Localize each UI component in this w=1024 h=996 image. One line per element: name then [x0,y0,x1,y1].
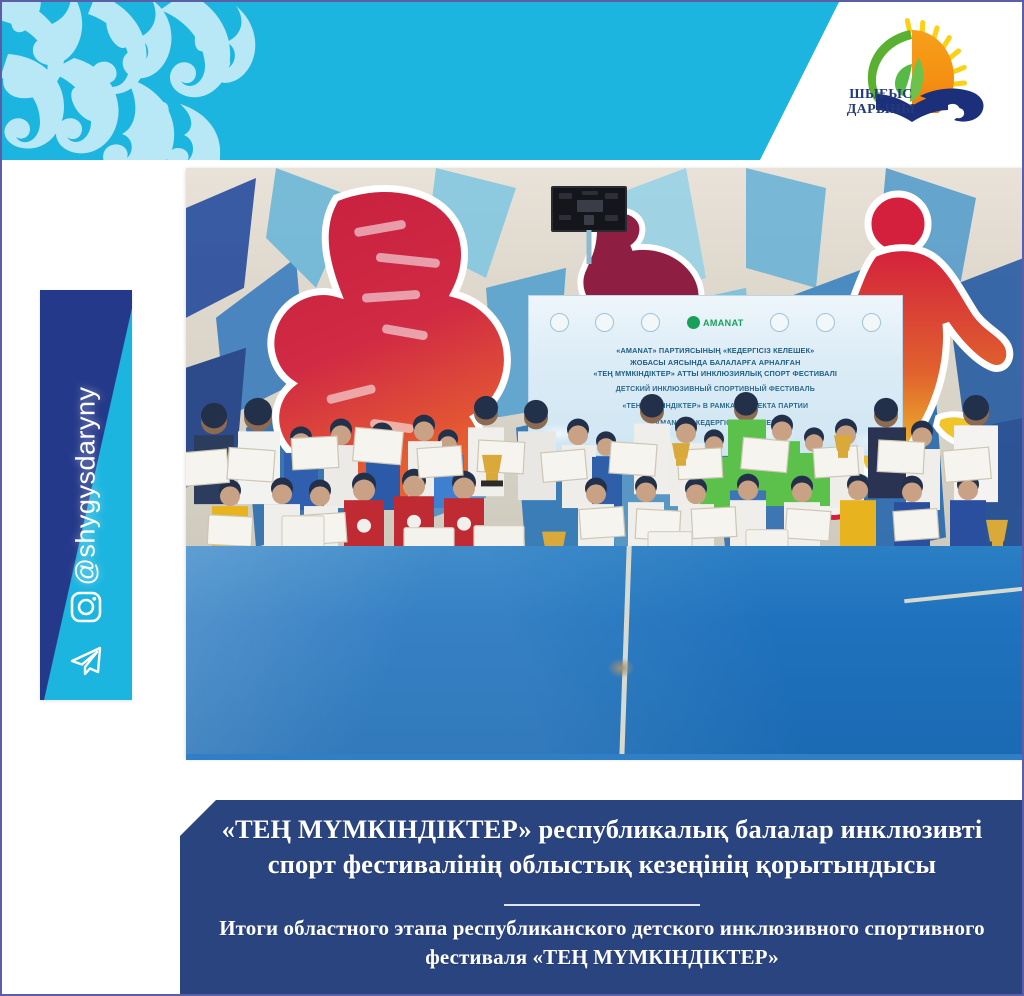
sponsor-logo-6 [862,313,881,332]
banner-kk-line-3: «ТЕҢ МҮМКІНДІКТЕР» АТТЫ ИНКЛЮЗИЯЛЫҚ СПОР… [540,368,891,379]
event-photo: AMANAT «AMANAT» ПАРТИЯСЫНЫҢ «КЕДЕРГІСІЗ … [186,168,1024,758]
photo-bottom-strip [186,754,1024,760]
sponsor-logo-3 [641,313,660,332]
sponsor-logo-4 [770,313,789,332]
kazakh-ornament-pattern [0,0,260,160]
floor-scuff-mark [608,658,634,678]
logo-line-2: ДАРЫНЫ [838,103,924,118]
title-divider [504,904,700,906]
sponsor-logo-5 [816,313,835,332]
event-banner-sponsor-logos: AMANAT [536,305,894,340]
banner-kk-line-1: «AMANAT» ПАРТИЯСЫНЫҢ «КЕДЕРГІСІЗ КЕЛЕШЕК… [540,345,891,356]
poster-canvas: ШЫҒЫС ДАРЫНЫ @shygysdaryny [0,0,1024,996]
sponsor-logo-2 [595,313,614,332]
organization-logo: ШЫҒЫС ДАРЫНЫ [832,14,1000,160]
instagram-icon[interactable] [69,590,103,624]
scoreboard-icon [551,186,627,232]
title-russian: Итоги областного этапа республиканского … [206,914,998,972]
banner-kk-line-2: ЖОБАСЫ АЯСЫНДА БАЛАЛАРҒА АРНАЛҒАН [540,357,891,368]
social-handle-bar[interactable]: @shygysdaryny [40,290,132,700]
amanat-label: AMANAT [703,318,744,328]
floor-reflection [186,546,1024,758]
telegram-paper-plane-icon[interactable] [67,642,105,680]
logo-wordmark: ШЫҒЫС ДАРЫНЫ [838,88,924,117]
top-cyan-banner [0,0,840,160]
participants-group: QAZ [186,392,1024,569]
title-panel: «ТЕҢ МҮМКІНДІКТЕР» республикалық балалар… [180,800,1024,996]
sponsor-logo-1 [550,313,569,332]
title-kazakh: «ТЕҢ МҮМКІНДІКТЕР» республикалық балалар… [206,812,998,882]
logo-line-1: ШЫҒЫС [838,88,924,103]
amanat-mark-icon [687,316,700,329]
social-handle-text: @shygysdaryny [71,387,102,586]
amanat-party-logo: AMANAT [687,316,744,329]
